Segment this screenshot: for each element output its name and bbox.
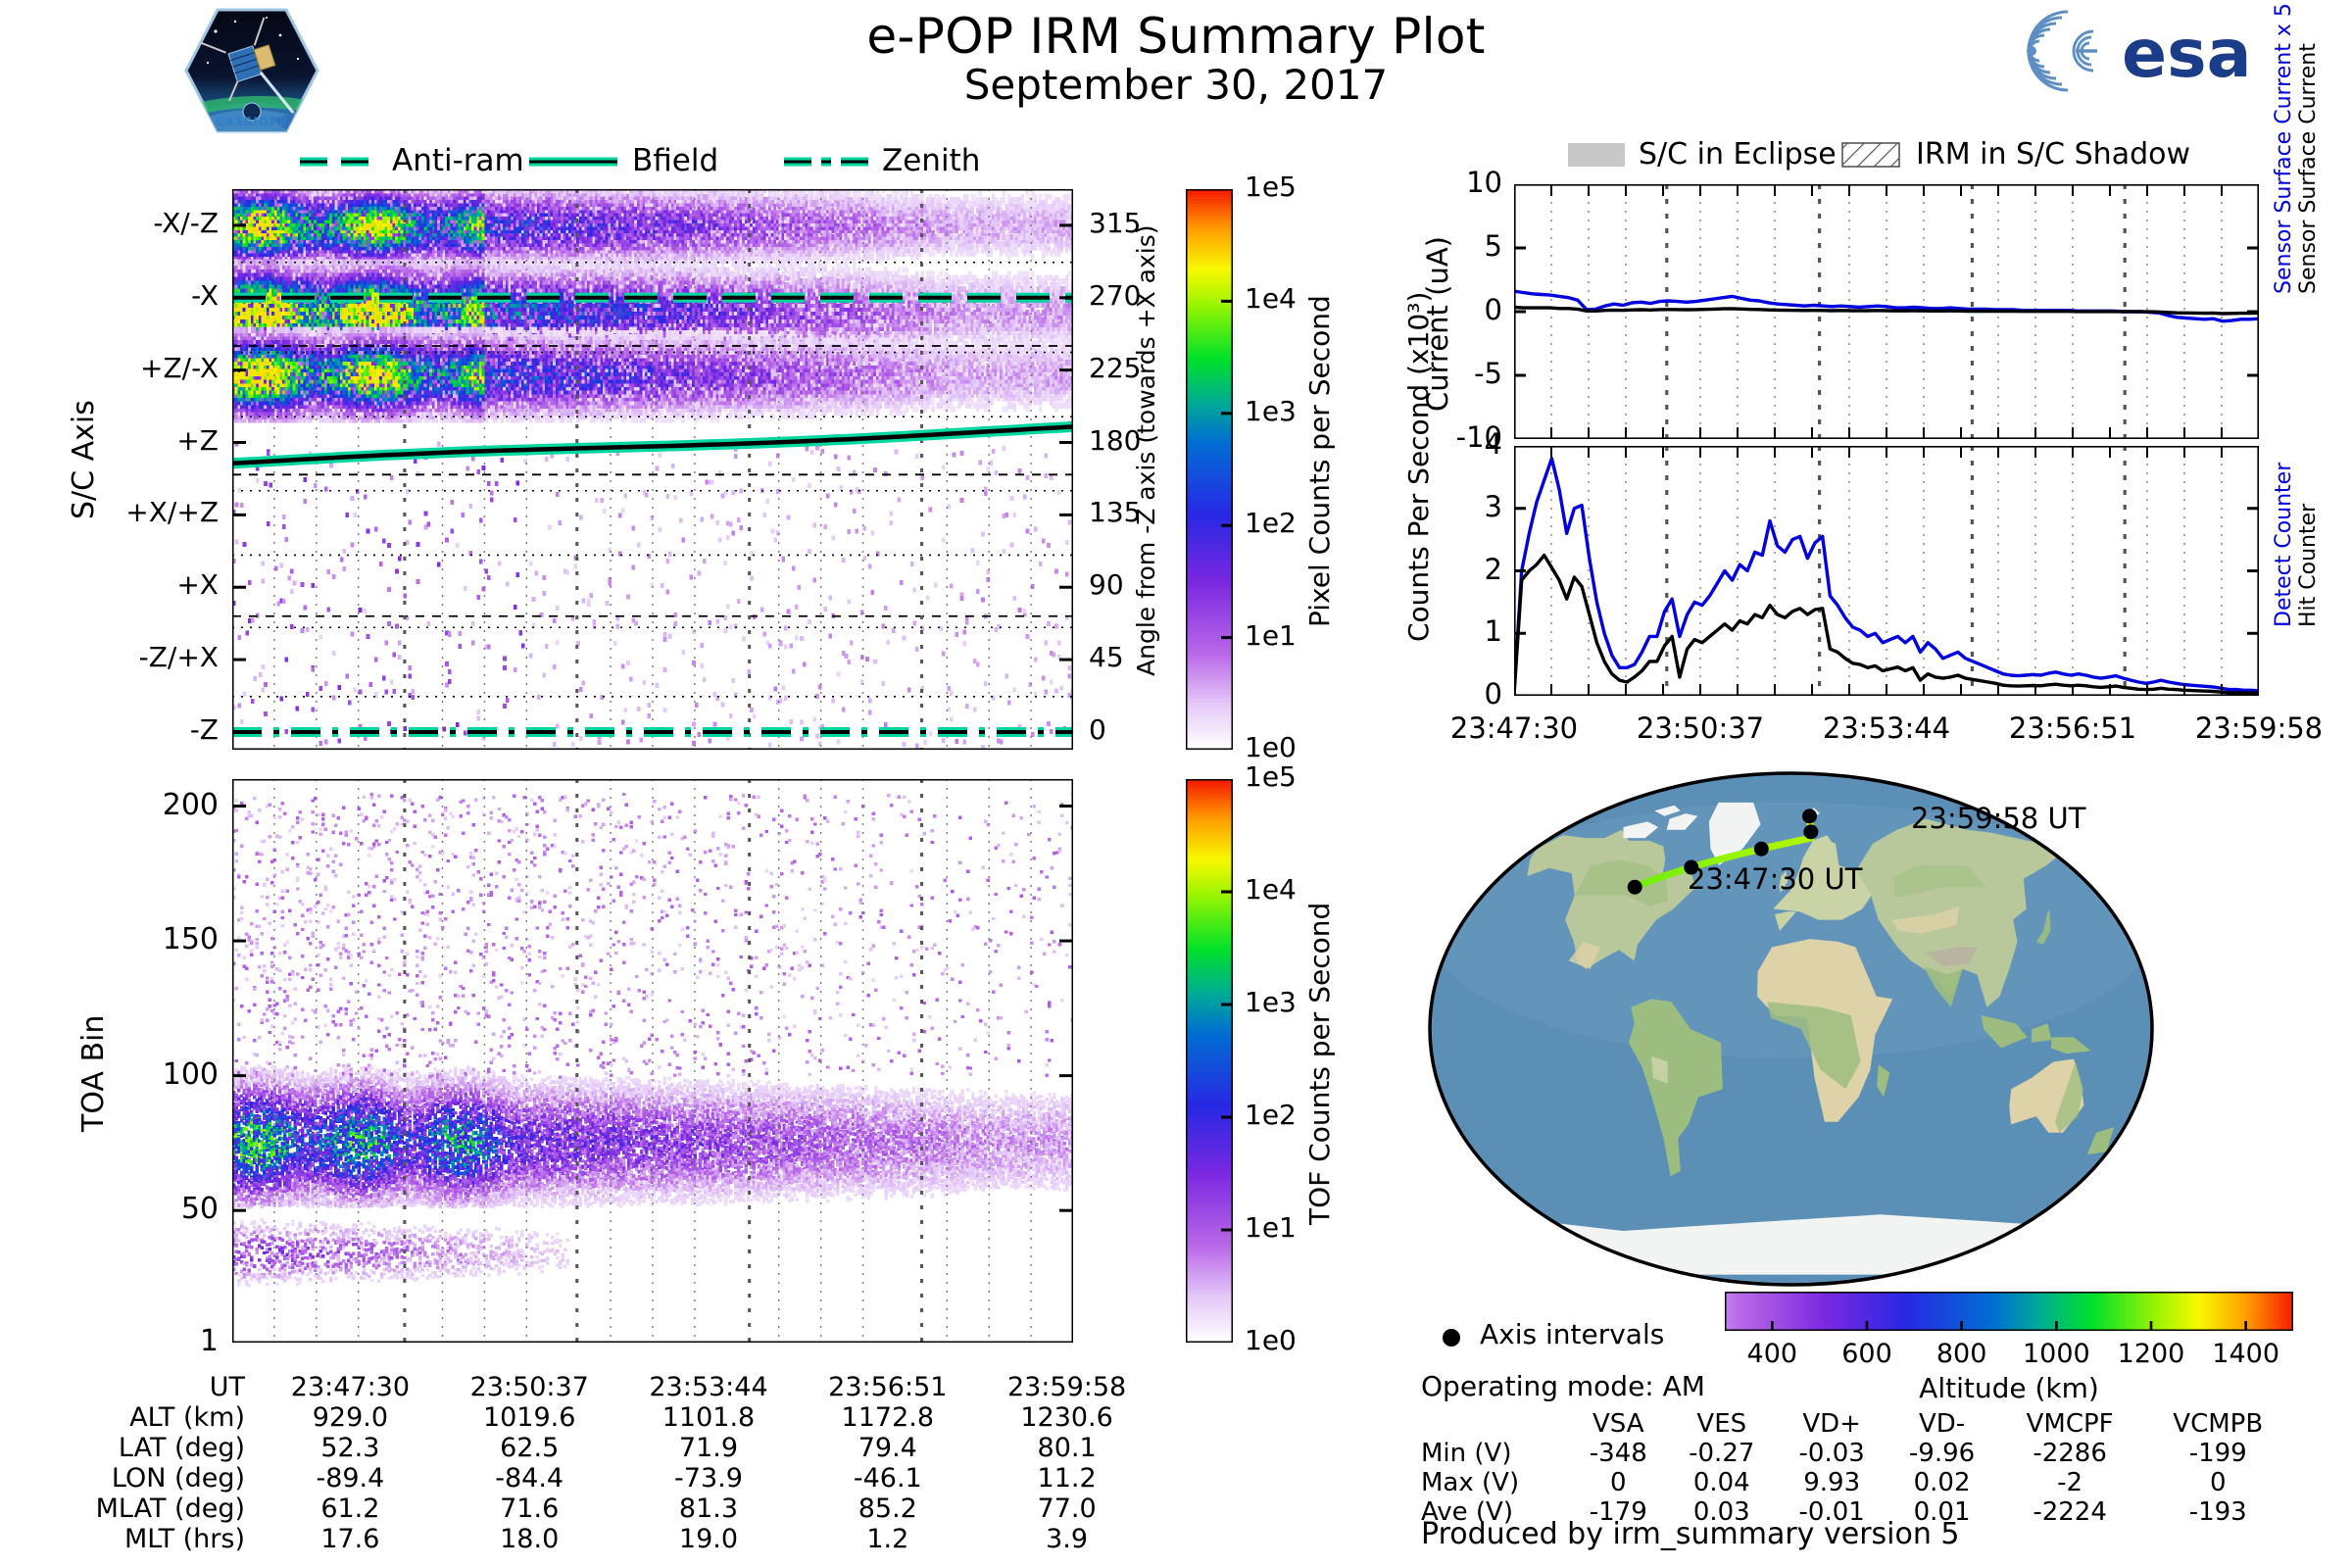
- voltage-table: VSAVESVD+VD-VMCPFVCMPBMin (V)-348-0.27-0…: [1421, 1409, 2293, 1527]
- table-header-row: VSAVESVD+VD-VMCPFVCMPB: [1421, 1409, 2293, 1439]
- eph-cell: 52.3: [261, 1433, 440, 1463]
- current-panel: [1514, 184, 2259, 439]
- counts-right-label-black: Hit Counter: [2296, 504, 2321, 627]
- tof-colorbar-label: TOF Counts per Second: [1303, 903, 1336, 1225]
- counts-ytick-1: 1: [1485, 614, 1502, 648]
- tof-colorbar-tick-2: 1e2: [1245, 1099, 1297, 1131]
- eph-cell: 23:56:51: [798, 1372, 977, 1402]
- eph-cell: 23:59:58: [977, 1372, 1156, 1402]
- voltage-col-header: VSA: [1570, 1409, 1667, 1439]
- altitude-tick-1: 600: [1841, 1339, 1892, 1369]
- table-row: ALT (km)929.01019.61101.81172.81230.6: [39, 1402, 1156, 1433]
- voltage-col-header: VCMPB: [2142, 1409, 2293, 1439]
- axis-intervals-dot-icon: [1439, 1325, 1464, 1350]
- toa-ytick-2: 100: [163, 1057, 219, 1092]
- eph-cell: -46.1: [798, 1463, 977, 1494]
- axis-intervals-label: Axis intervals: [1480, 1318, 1664, 1350]
- tof-colorbar-tick-5: 1e5: [1245, 760, 1297, 793]
- pixel-spectrogram-rtick-0: 315: [1089, 207, 1141, 239]
- pixel-colorbar-label: Pixel Counts per Second: [1303, 295, 1336, 627]
- pixel-colorbar-tick-1: 1e1: [1245, 619, 1297, 652]
- pixel-colorbar-tick-2: 1e2: [1245, 507, 1297, 539]
- eph-cell: 71.6: [440, 1494, 619, 1524]
- counts-right-label-blue: Detect Counter: [2272, 463, 2296, 627]
- pixel-spectrogram-ytick-3: +Z: [176, 424, 219, 457]
- map-end-time-label: 23:59:58 UT: [1911, 802, 2085, 835]
- voltage-cell: 0: [2142, 1468, 2293, 1497]
- counts-xtick-2: 23:53:44: [1823, 711, 1950, 745]
- tof-colorbar-tick-4: 1e4: [1245, 873, 1297, 906]
- eph-cell: 1230.6: [977, 1402, 1156, 1433]
- pixel-spectrogram-ytick-6: -Z/+X: [139, 641, 219, 673]
- eph-cell: 85.2: [798, 1494, 977, 1524]
- tof-colorbar-tick-1: 1e1: [1245, 1211, 1297, 1244]
- counts-ytick-3: 3: [1485, 490, 1502, 523]
- eph-cell: -73.9: [619, 1463, 799, 1494]
- toa-ytick-3: 150: [163, 922, 219, 956]
- eph-cell: 62.5: [440, 1433, 619, 1463]
- eph-row-label: LAT (deg): [39, 1433, 261, 1463]
- toa-spectrogram-panel: [232, 779, 1073, 1343]
- pixel-spectrogram-rtick-5: 90: [1089, 568, 1124, 601]
- voltage-cell: -348: [1570, 1439, 1667, 1468]
- orbit-world-map: [1426, 769, 2156, 1289]
- toa-ytick-1: 50: [181, 1192, 219, 1226]
- eph-cell: 1101.8: [619, 1402, 799, 1433]
- altitude-tick-5: 1400: [2212, 1339, 2279, 1369]
- current-right-label-blue: Sensor Surface Current x 5: [2272, 3, 2296, 294]
- voltage-cell: -193: [2142, 1497, 2293, 1527]
- pixel-colorbar-tick-4: 1e4: [1245, 282, 1297, 315]
- current-ytick-3: 5: [1485, 229, 1502, 263]
- counts-panel-ylabel: Counts Per Second (x10³): [1403, 292, 1435, 642]
- toa-ytick-4: 200: [163, 788, 219, 822]
- voltage-cell: -2224: [1997, 1497, 2143, 1527]
- tof-colorbar: [1186, 779, 1233, 1343]
- pixel-spectrogram-rtick-2: 225: [1089, 352, 1141, 384]
- eph-cell: -89.4: [261, 1463, 440, 1494]
- eph-row-label: MLT (hrs): [39, 1524, 261, 1554]
- voltage-cell: -0.03: [1777, 1439, 1886, 1468]
- eph-row-label: MLAT (deg): [39, 1494, 261, 1524]
- eph-cell: 1172.8: [798, 1402, 977, 1433]
- footer-produced-by: Produced by irm_summary version 5: [1421, 1517, 1959, 1551]
- counts-ytick-2: 2: [1485, 553, 1502, 586]
- pixel-spectrogram-ytick-4: +X/+Z: [125, 496, 219, 528]
- voltage-cell: 0.02: [1886, 1468, 1996, 1497]
- counts-xtick-0: 23:47:30: [1450, 711, 1578, 745]
- pixel-spectrogram-ytick-5: +X: [176, 568, 219, 601]
- table-row: MLAT (deg)61.271.681.385.277.0: [39, 1494, 1156, 1524]
- toa-spectrogram-ylabel: TOA Bin: [76, 1015, 111, 1132]
- counts-xtick-3: 23:56:51: [2009, 711, 2136, 745]
- voltage-cell: 9.93: [1777, 1468, 1886, 1497]
- pixel-colorbar-tick-0: 1e0: [1245, 731, 1297, 763]
- eph-cell: 929.0: [261, 1402, 440, 1433]
- altitude-tick-4: 1200: [2118, 1339, 2185, 1369]
- altitude-tick-0: 400: [1747, 1339, 1798, 1369]
- voltage-cell: -2286: [1997, 1439, 2143, 1468]
- eph-row-label: UT: [39, 1372, 261, 1402]
- ephemeris-table: UT23:47:3023:50:3723:53:4423:56:5123:59:…: [39, 1372, 1156, 1554]
- eph-row-label: LON (deg): [39, 1463, 261, 1494]
- operating-mode-label: Operating mode: AM: [1421, 1370, 1705, 1402]
- table-row: Min (V)-348-0.27-0.03-9.96-2286-199: [1421, 1439, 2293, 1468]
- eph-cell: 81.3: [619, 1494, 799, 1524]
- eph-cell: 19.0: [619, 1524, 799, 1554]
- counts-ytick-4: 4: [1485, 427, 1502, 461]
- pixel-spectrogram-panel: [232, 189, 1073, 750]
- pixel-spectrogram-ylabel: S/C Axis: [67, 400, 101, 519]
- counts-xtick-1: 23:50:37: [1637, 711, 1764, 745]
- voltage-col-header: VMCPF: [1997, 1409, 2143, 1439]
- pixel-spectrogram-rtick-6: 45: [1089, 641, 1124, 673]
- page-title: e-POP IRM Summary Plot: [588, 8, 1764, 65]
- eph-cell: 1019.6: [440, 1402, 619, 1433]
- pixel-colorbar-tick-5: 1e5: [1245, 171, 1297, 203]
- pixel-spectrogram-ytick-7: -Z: [190, 713, 219, 746]
- current-ytick-1: -5: [1474, 357, 1502, 390]
- eclipse-legend-label-irm: IRM in S/C Shadow: [1916, 137, 2190, 171]
- eph-cell: 23:47:30: [261, 1372, 440, 1402]
- table-row: Max (V)00.049.930.02-20: [1421, 1468, 2293, 1497]
- current-ytick-4: 10: [1466, 166, 1502, 199]
- voltage-corner-cell: [1421, 1409, 1570, 1439]
- voltage-col-header: VD-: [1886, 1409, 1996, 1439]
- tof-colorbar-tick-3: 1e3: [1245, 986, 1297, 1018]
- legend-label-zenith: Zenith: [882, 143, 980, 178]
- pixel-colorbar: [1186, 189, 1233, 750]
- voltage-row-label: Min (V): [1421, 1439, 1570, 1468]
- legend-label-bfield: Bfield: [632, 143, 718, 178]
- pixel-colorbar-tick-3: 1e3: [1245, 395, 1297, 427]
- svg-text:CASSIOPE: CASSIOPE: [216, 115, 287, 128]
- voltage-cell: -199: [2142, 1439, 2293, 1468]
- svg-text:esa: esa: [2122, 16, 2251, 93]
- altitude-colorbar: [1725, 1292, 2293, 1331]
- eph-cell: -84.4: [440, 1463, 619, 1494]
- pixel-spectrogram-rtick-3: 180: [1089, 424, 1141, 457]
- cassiope-mission-patch-icon: CASSIOPE: [178, 2, 325, 139]
- esa-logo-icon: esa: [1999, 6, 2264, 96]
- altitude-tick-3: 1000: [2023, 1339, 2090, 1369]
- pixel-spectrogram-rtick-4: 135: [1089, 496, 1141, 528]
- voltage-col-header: VD+: [1777, 1409, 1886, 1439]
- eph-cell: 23:53:44: [619, 1372, 799, 1402]
- counts-xtick-4: 23:59:58: [2195, 711, 2323, 745]
- table-row: MLT (hrs)17.618.019.01.23.9: [39, 1524, 1156, 1554]
- tof-colorbar-tick-0: 1e0: [1245, 1324, 1297, 1356]
- counts-ytick-0: 0: [1485, 677, 1502, 710]
- eph-cell: 1.2: [798, 1524, 977, 1554]
- eph-cell: 80.1: [977, 1433, 1156, 1463]
- eph-cell: 3.9: [977, 1524, 1156, 1554]
- current-right-label-black: Sensor Surface Current: [2296, 43, 2321, 294]
- altitude-tick-2: 800: [1936, 1339, 1987, 1369]
- eph-cell: 17.6: [261, 1524, 440, 1554]
- page-subtitle: September 30, 2017: [588, 61, 1764, 109]
- eph-cell: 77.0: [977, 1494, 1156, 1524]
- toa-ytick-0: 1: [200, 1324, 219, 1358]
- eph-cell: 71.9: [619, 1433, 799, 1463]
- voltage-cell: -0.27: [1667, 1439, 1777, 1468]
- table-row: LON (deg)-89.4-84.4-73.9-46.111.2: [39, 1463, 1156, 1494]
- altitude-colorbar-label: Altitude (km): [1725, 1372, 2293, 1404]
- voltage-row-label: Max (V): [1421, 1468, 1570, 1497]
- table-row: LAT (deg)52.362.571.979.480.1: [39, 1433, 1156, 1463]
- legend-label-anti-ram: Anti-ram: [392, 143, 524, 178]
- voltage-col-header: VES: [1667, 1409, 1777, 1439]
- eph-cell: 18.0: [440, 1524, 619, 1554]
- pixel-spectrogram-ytick-2: +Z/-X: [140, 352, 219, 384]
- current-ytick-2: 0: [1485, 293, 1502, 326]
- pixel-spectrogram-ytick-0: -X/-Z: [153, 207, 219, 239]
- pixel-spectrogram-rtick-1: 270: [1089, 279, 1141, 312]
- eph-cell: 61.2: [261, 1494, 440, 1524]
- voltage-cell: 0: [1570, 1468, 1667, 1497]
- map-start-time-label: 23:47:30 UT: [1688, 862, 1862, 896]
- eph-cell: 79.4: [798, 1433, 977, 1463]
- eph-cell: 11.2: [977, 1463, 1156, 1494]
- counts-panel: [1514, 446, 2259, 696]
- eph-row-label: ALT (km): [39, 1402, 261, 1433]
- voltage-cell: -9.96: [1886, 1439, 1996, 1468]
- table-row: UT23:47:3023:50:3723:53:4423:56:5123:59:…: [39, 1372, 1156, 1402]
- eph-cell: 23:50:37: [440, 1372, 619, 1402]
- voltage-cell: 0.04: [1667, 1468, 1777, 1497]
- eclipse-legend-label-sc: S/C in Eclipse: [1639, 137, 1837, 171]
- voltage-cell: -2: [1997, 1468, 2143, 1497]
- pixel-spectrogram-rtick-7: 0: [1089, 713, 1106, 746]
- pixel-spectrogram-ytick-1: -X: [191, 279, 219, 312]
